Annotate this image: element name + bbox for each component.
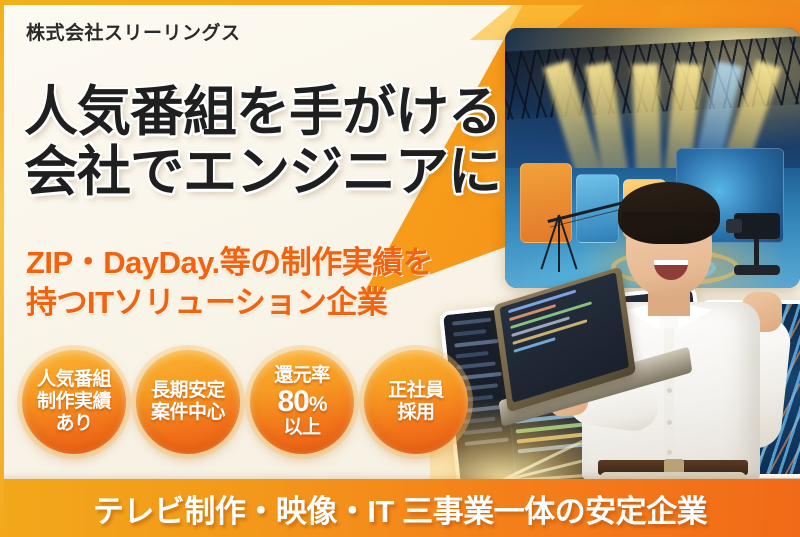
- badge-line: 還元率: [274, 365, 330, 387]
- ad-banner-root: 株式会社スリーリングス 人気番組を手がける 会社でエンジニアに ZIP・DayD…: [0, 0, 800, 537]
- headline-line-2: 会社でエンジニアに: [24, 142, 501, 202]
- headline-line-1: 人気番組を手がける: [24, 82, 501, 142]
- badge-line: 長期安定: [151, 380, 225, 402]
- held-laptop: [484, 269, 696, 427]
- bottom-banner: テレビ制作・映像・IT 三事業一体の安定企業: [0, 479, 800, 537]
- company-name: 株式会社スリーリングス: [26, 18, 241, 45]
- badge-number: 80: [277, 385, 308, 418]
- badge-long-term-stable-projects: 長期安定 案件中心: [136, 350, 240, 454]
- left-border-strip: [0, 0, 4, 537]
- subheadline-line-1: ZIP・DayDay.等の制作実績を: [26, 243, 433, 283]
- badge-line: 制作実績: [37, 391, 111, 413]
- badge-line: 案件中心: [151, 402, 225, 424]
- headline: 人気番組を手がける 会社でエンジニアに: [24, 82, 501, 203]
- shirt-button: [667, 420, 672, 425]
- badge-line: 採用: [397, 402, 434, 424]
- subheadline: ZIP・DayDay.等の制作実績を 持つITソリューション企業: [26, 243, 433, 322]
- badge-full-time-employment: 正社員 採用: [364, 350, 468, 454]
- badge-line: あり: [55, 413, 92, 435]
- badge-line: 以上: [283, 417, 320, 439]
- feature-badges: 人気番組 制作実績 あり 長期安定 案件中心 還元率 80% 以上 正社員 採用: [22, 350, 468, 454]
- badge-line-emphasis: 80%: [277, 387, 326, 418]
- bottom-banner-text: テレビ制作・映像・IT 三事業一体の安定企業: [93, 486, 707, 531]
- badge-popular-program-record: 人気番組 制作実績 あり: [22, 350, 126, 454]
- badge-line: 人気番組: [37, 369, 111, 391]
- top-border-strip: [0, 0, 800, 5]
- shirt-button: [667, 450, 672, 455]
- percent-sign: %: [309, 393, 327, 416]
- badge-line: 正社員: [388, 380, 444, 402]
- person-hair: [618, 182, 720, 244]
- subheadline-line-2: 持つITソリューション企業: [26, 283, 433, 323]
- badge-return-rate-80-percent: 還元率 80% 以上: [250, 350, 354, 454]
